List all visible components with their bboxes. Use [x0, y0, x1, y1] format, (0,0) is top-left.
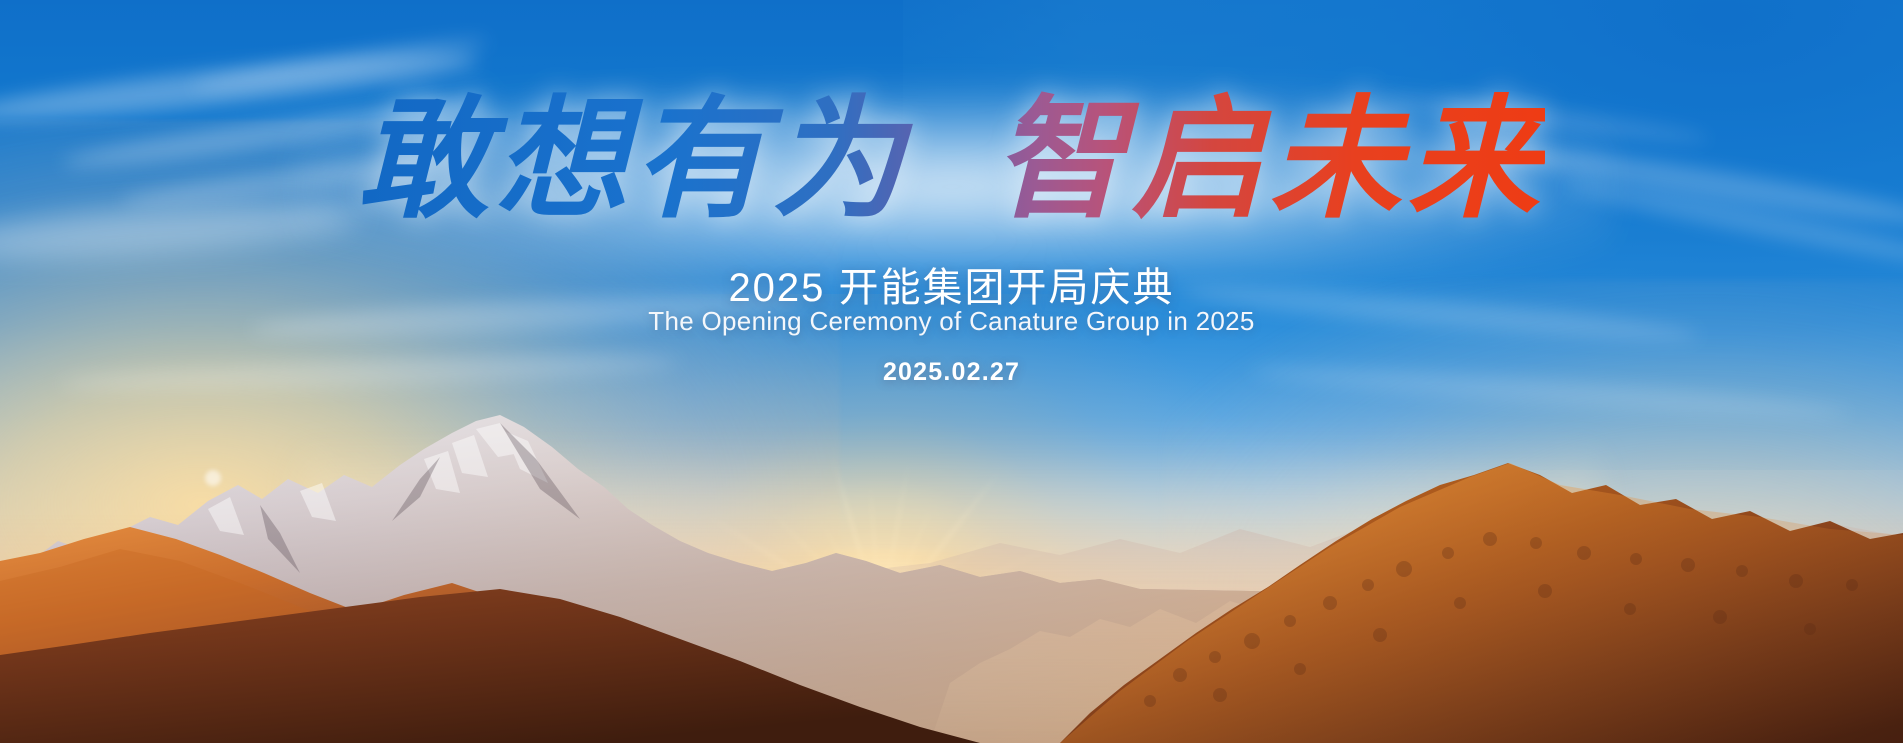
headline-block: 敢想有为 智启未来 [0, 78, 1903, 242]
event-date: 2025.02.27 [0, 358, 1903, 387]
headline-calligraphy: 敢想有为 智启未来 [358, 78, 1546, 242]
banner-content: 敢想有为 智启未来 2025 开能集团开局庆典 The Opening Cere… [0, 0, 1903, 743]
celebration-banner: 敢想有为 智启未来 2025 开能集团开局庆典 The Opening Cere… [0, 0, 1903, 743]
subtitle-chinese: 2025 开能集团开局庆典 [0, 255, 1903, 313]
subtitle-english: The Opening Ceremony of Canature Group i… [0, 306, 1903, 337]
headline-right-phrase: 智启未来 [993, 82, 1545, 237]
headline-left-phrase: 敢想有为 [358, 82, 910, 237]
headline-phrase-gap [910, 82, 994, 237]
